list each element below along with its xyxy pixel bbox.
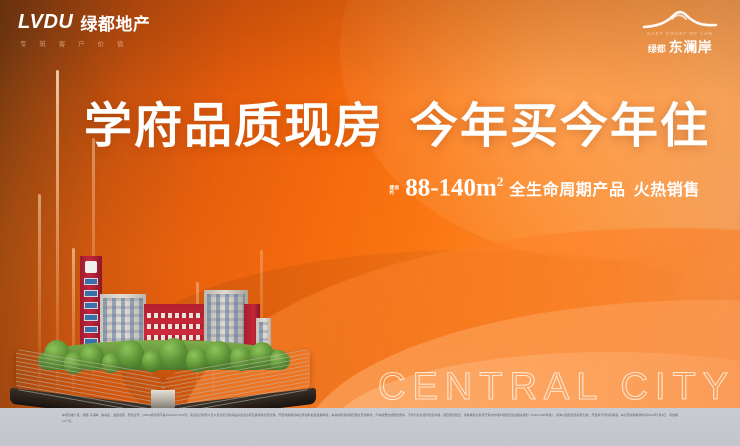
tower-window <box>84 290 98 297</box>
project-logo-english: EAST COAST OF LAN <box>647 31 713 36</box>
tagline-char: 筑 <box>39 38 46 48</box>
window-row <box>147 324 203 329</box>
headline-part-2: 今年买今年住 <box>410 86 710 156</box>
open-book <box>18 352 308 414</box>
advertisement-poster: LVDU 绿都地产 专筑客户价值 EAST COAST OF LAN 绿都 东澜… <box>0 0 740 446</box>
area-range-value: 88-140m <box>405 174 497 201</box>
tagline-char: 值 <box>117 38 124 48</box>
tagline-char: 价 <box>98 38 105 48</box>
area-badge: 建面 约 <box>389 181 399 195</box>
tower-window <box>84 302 98 309</box>
book-campus-illustration <box>18 236 308 414</box>
subheadline-text: 全生命周期产品火热销售 <box>509 176 700 200</box>
area-unit-superscript: 2 <box>497 174 504 189</box>
project-logo-developer: 绿都 <box>648 42 666 55</box>
window-row <box>147 313 203 318</box>
central-city-watermark: CENTRAL CITY <box>378 366 735 409</box>
footer-disclaimer-bar: 本项目推广名：绿都·东澜岸，备案名：金桂嘉苑，预售证号：[2024]郑房预字第J… <box>0 408 740 446</box>
product-label: 全生命周期产品 <box>509 182 625 199</box>
clock-face-icon <box>85 261 97 273</box>
developer-logo: LVDU 绿都地产 专筑客户价值 <box>18 10 150 48</box>
developer-logo-latin: LVDU <box>18 11 73 34</box>
headline-part-1: 学府品质现房 <box>84 86 384 156</box>
tagline-char: 客 <box>59 38 66 48</box>
tower-window <box>84 278 98 285</box>
clock-tower-building <box>80 256 102 356</box>
project-logo-names: 绿都 东澜岸 <box>648 37 713 57</box>
project-logo: EAST COAST OF LAN 绿都 东澜岸 <box>634 8 726 57</box>
tagline-char: 专 <box>20 38 27 48</box>
mountain-wave-icon <box>642 8 718 30</box>
tagline-char: 户 <box>78 38 85 48</box>
developer-logo-tagline: 专筑客户价值 <box>20 38 124 48</box>
tower-window <box>84 314 98 321</box>
developer-logo-chinese: 绿都地产 <box>80 10 150 35</box>
project-logo-name: 东澜岸 <box>669 37 713 57</box>
area-badge-line-2: 约 <box>389 190 399 195</box>
sales-status-label: 火热销售 <box>634 182 700 199</box>
area-range: 88-140m2 <box>405 174 503 202</box>
developer-logo-row: LVDU 绿都地产 <box>18 10 150 35</box>
subheadline: 建面 约 88-140m2 全生命周期产品火热销售 <box>389 174 700 202</box>
tower-window <box>84 326 98 333</box>
disclaimer-text: 本项目推广名：绿都·东澜岸，备案名：金桂嘉苑，预售证号：[2024]郑房预字第J… <box>62 413 678 424</box>
headline: 学府品质现房 今年买今年住 <box>84 86 710 156</box>
